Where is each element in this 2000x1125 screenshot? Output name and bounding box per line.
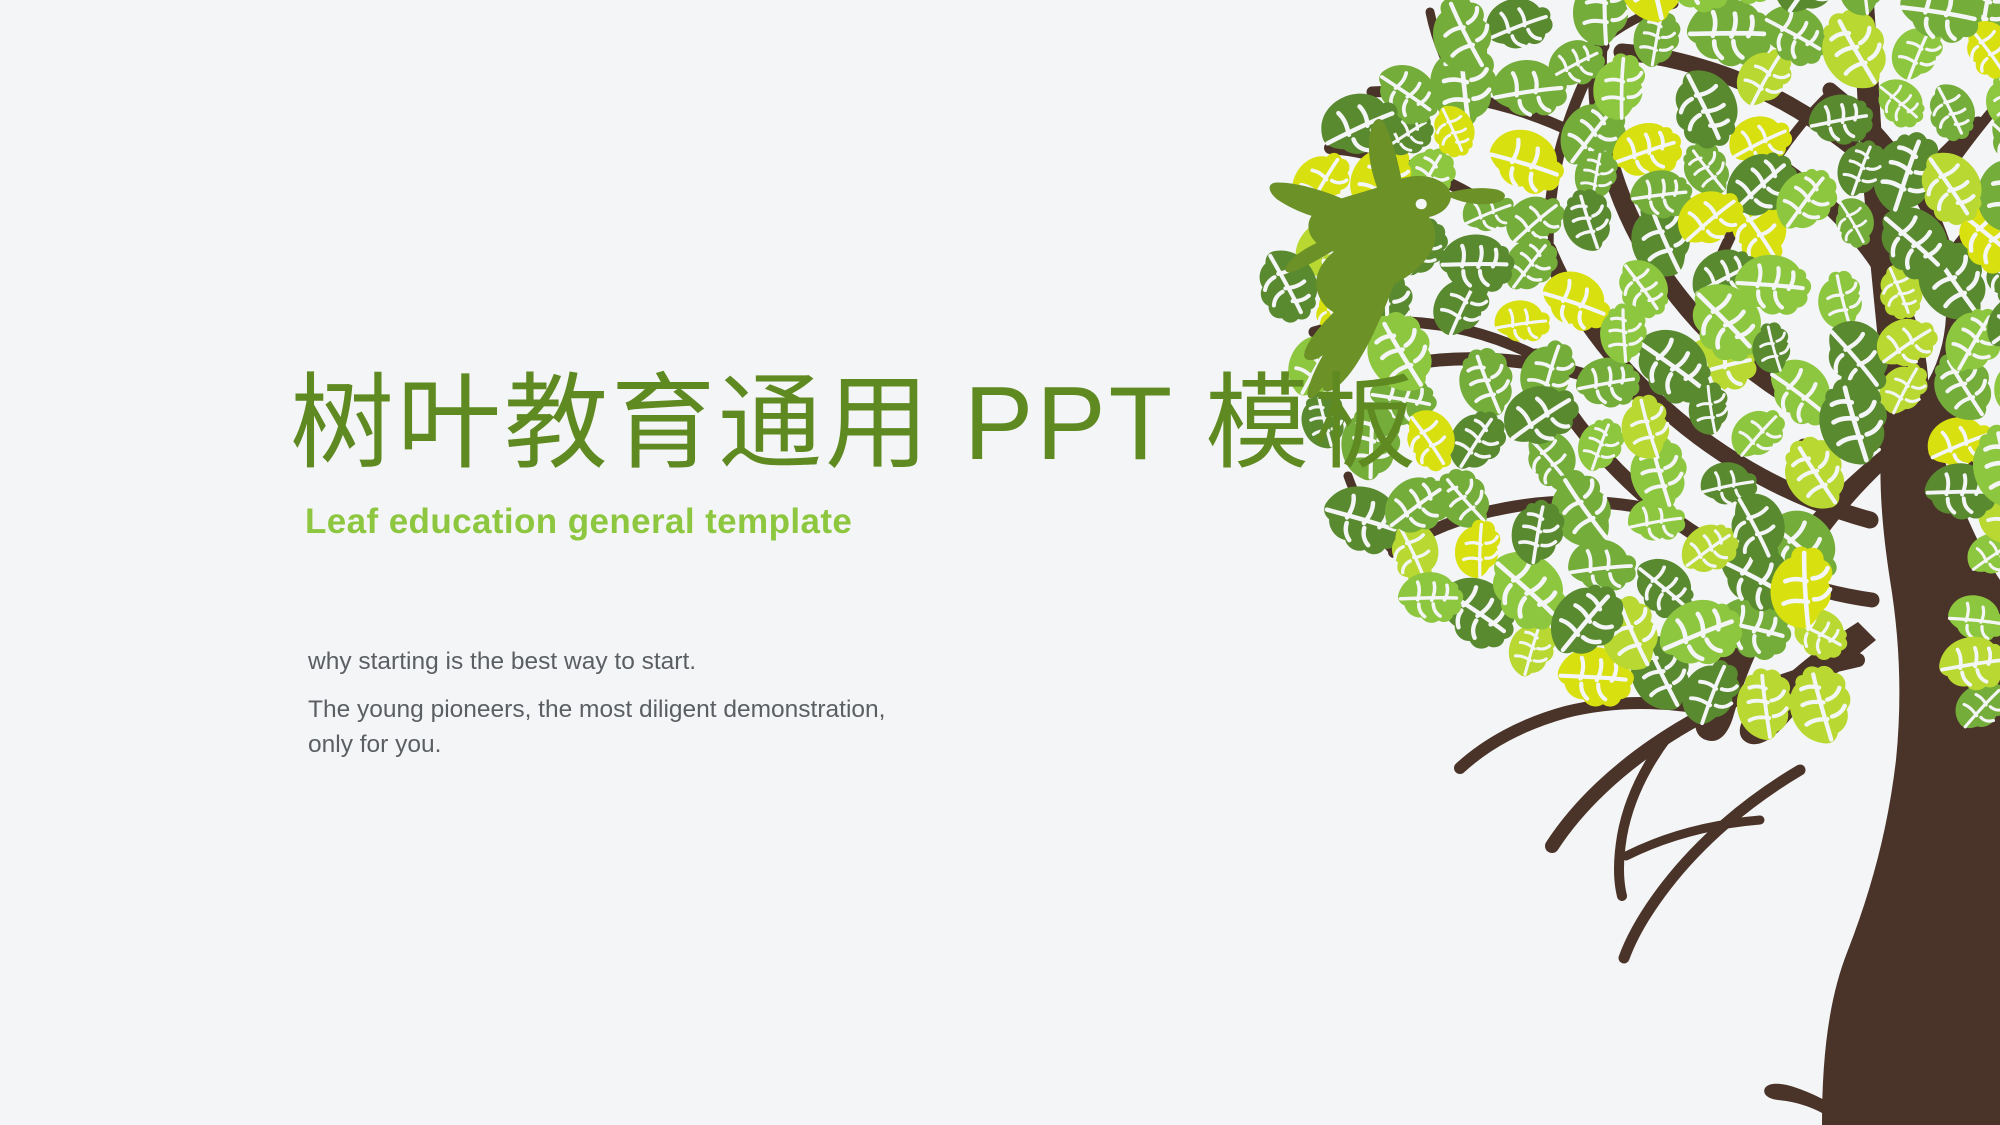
leaf — [1571, 348, 1647, 418]
leaf — [1497, 613, 1567, 682]
leaf — [1524, 426, 1580, 494]
leaf — [1625, 160, 1699, 229]
leaf — [1746, 318, 1797, 376]
leaf — [1965, 19, 2000, 81]
leaf — [1705, 0, 1787, 16]
body-paragraph: why starting is the best way to start. — [308, 645, 928, 680]
leaf — [1257, 249, 1319, 323]
leaf — [1876, 317, 1939, 367]
leaf — [1623, 489, 1692, 550]
leaf — [1503, 384, 1581, 445]
leaf — [1918, 449, 2000, 533]
leaf — [1824, 316, 1894, 401]
leaf — [1780, 659, 1860, 749]
leaf — [1875, 263, 1926, 322]
leaf — [1430, 0, 1495, 74]
leaf — [1696, 454, 1763, 513]
leaf — [1835, 198, 1874, 248]
leaf — [1804, 85, 1880, 155]
leaf — [1681, 376, 1738, 439]
leaf — [1725, 404, 1792, 462]
leaf — [1728, 114, 1794, 167]
leaf — [1628, 634, 1694, 712]
leaf — [1811, 266, 1871, 334]
title-text-block: 树叶教育通用 PPT 模板 Leaf education general tem… — [290, 368, 1350, 542]
leaf — [1916, 237, 1987, 322]
leaf — [1563, 141, 1628, 207]
leaf — [1687, 276, 1770, 370]
leaf — [1540, 577, 1634, 662]
leaf — [1435, 565, 1524, 661]
leafy-tree-illustration — [0, 0, 2000, 1125]
leaf — [1934, 350, 1991, 420]
page-subtitle: Leaf education general template — [305, 502, 1350, 542]
leaf — [1507, 331, 1589, 412]
leaf — [1681, 139, 1731, 198]
leaf — [1342, 263, 1428, 355]
leaf — [1431, 104, 1478, 159]
leaf — [1763, 0, 1859, 20]
leaf — [1559, 0, 1645, 54]
leaf — [1942, 584, 2000, 654]
leaf — [1925, 412, 1998, 472]
leaf — [1548, 38, 1607, 87]
leaf — [1549, 468, 1613, 549]
leaf — [1962, 140, 2000, 240]
leaf — [1809, 371, 1897, 470]
hummingbird-icon — [1270, 119, 1505, 398]
leaf — [1281, 144, 1361, 218]
leaf — [1460, 187, 1518, 235]
leaf — [1982, 352, 2000, 420]
leaf — [1933, 300, 2000, 379]
leaf — [1626, 195, 1695, 279]
body-copy: why starting is the best way to start. T… — [308, 645, 928, 762]
leaf — [1870, 356, 1939, 420]
leaf — [1422, 267, 1502, 343]
leaf — [1589, 296, 1657, 369]
leaf — [1562, 528, 1645, 604]
leaf — [1784, 436, 1845, 510]
leaf — [1432, 220, 1523, 307]
leaf — [1927, 83, 1977, 143]
leaf — [1726, 41, 1803, 112]
leaf — [1987, 109, 2000, 177]
leaf — [1382, 475, 1453, 535]
leaf — [1763, 350, 1841, 437]
leaf — [1756, 0, 1837, 78]
leaf — [1380, 111, 1434, 156]
leaf — [1444, 512, 1512, 584]
leaf — [1951, 192, 2000, 284]
leaf — [1502, 192, 1569, 247]
leaf — [1921, 151, 1984, 226]
leaf — [1550, 94, 1636, 173]
leaf — [1766, 162, 1847, 237]
leaf — [1550, 632, 1644, 722]
leaf — [1674, 187, 1748, 248]
leaf — [1963, 417, 2000, 514]
body-paragraph: The young pioneers, the most diligent de… — [308, 693, 928, 763]
leaf — [1498, 491, 1578, 572]
leaf — [1676, 327, 1763, 403]
leaf — [1763, 501, 1846, 596]
leaf — [1485, 541, 1573, 639]
leaf — [1982, 71, 2000, 130]
leaf — [1415, 31, 1511, 134]
leaf — [1708, 581, 1802, 675]
leaf — [1829, 0, 1896, 21]
leaf — [1881, 16, 1955, 87]
leaf — [1671, 68, 1741, 151]
leaf — [1490, 292, 1557, 352]
leaf — [1609, 116, 1687, 185]
leaf — [1729, 492, 1787, 565]
leaf — [1712, 527, 1805, 627]
leaf — [1567, 411, 1635, 477]
leaf — [1981, 243, 2000, 313]
leaf — [1679, 0, 1784, 83]
leaf — [1481, 115, 1575, 210]
leaf — [1656, 593, 1746, 671]
leaf — [1680, 523, 1741, 574]
leaf — [1629, 317, 1720, 416]
leaf — [1388, 520, 1441, 585]
leaf — [1454, 344, 1519, 419]
leaf — [1314, 290, 1357, 343]
leaf — [1581, 45, 1659, 127]
leaf — [1483, 0, 1557, 55]
leaf — [1535, 258, 1621, 346]
leaf — [1720, 148, 1803, 221]
leaf — [1891, 0, 1993, 60]
leaf — [1621, 2, 1692, 74]
leaf — [1630, 550, 1700, 627]
title-slide: 树叶教育通用 PPT 模板 Leaf education general tem… — [0, 0, 2000, 1125]
leaf — [1965, 464, 2000, 551]
leaf — [1597, 593, 1663, 673]
leaf — [1938, 0, 2000, 51]
leaf — [1856, 121, 1959, 222]
leaf — [1669, 651, 1754, 733]
leaf — [1392, 560, 1471, 636]
leaf — [1319, 89, 1404, 159]
leaf — [1825, 132, 1897, 203]
leaf — [1756, 536, 1849, 636]
leaf — [1337, 134, 1426, 220]
leaf — [1390, 140, 1467, 213]
leaf — [1730, 193, 1788, 266]
leaf — [1786, 597, 1856, 670]
leaf — [1873, 72, 1930, 135]
leaf — [1622, 431, 1695, 513]
leaf — [1967, 533, 2000, 575]
leaf — [1727, 239, 1821, 330]
leaf — [1649, 0, 1745, 27]
leaf — [1433, 464, 1492, 533]
tree-trunk — [1695, 300, 2000, 1125]
leaf — [1617, 258, 1670, 321]
leaf — [1821, 9, 1887, 89]
leaf — [1556, 184, 1618, 254]
leaf — [1289, 203, 1390, 297]
leaf — [1985, 291, 2000, 352]
leaf — [1485, 48, 1575, 130]
leaf — [1950, 678, 2000, 734]
leaf — [1691, 247, 1762, 306]
leaf — [1438, 403, 1516, 476]
leaf — [1725, 660, 1804, 746]
page-title: 树叶教育通用 PPT 模板 — [290, 368, 1350, 480]
leaf — [1882, 0, 1949, 1]
leaf — [1606, 0, 1696, 28]
leaf — [1372, 54, 1447, 135]
leaf — [1614, 390, 1677, 463]
leaf — [1874, 197, 1957, 290]
leaf — [1384, 210, 1459, 282]
leaf — [1934, 626, 2000, 701]
leaf — [1495, 231, 1566, 296]
